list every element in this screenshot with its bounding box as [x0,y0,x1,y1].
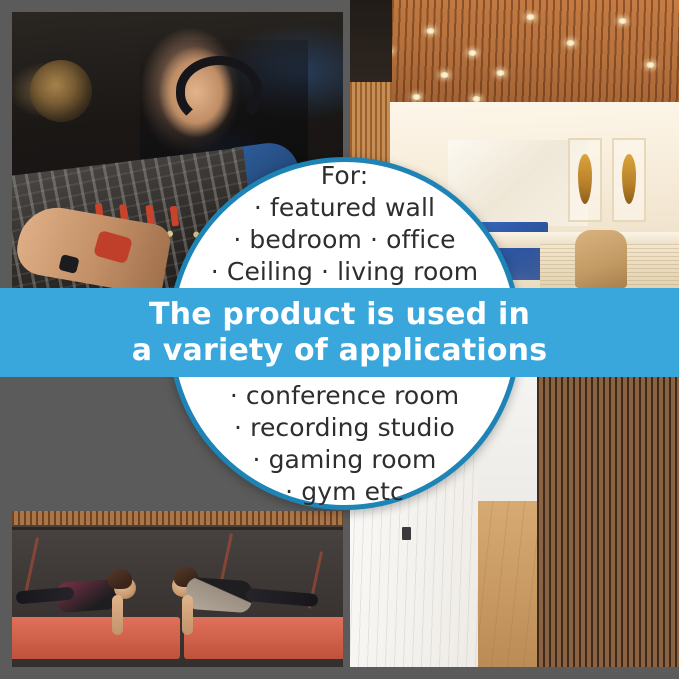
ceiling-spotlight [440,72,449,78]
callout-heading: For: [168,160,521,192]
headline-line-1: The product is used in [149,297,530,332]
exercise-mat [184,617,343,659]
headline-banner: The product is used in a variety of appl… [0,288,679,377]
callout-item-ceiling-living-room: · Ceiling · living room [168,256,521,288]
ceiling-spotlight [618,18,627,24]
gym-person-arm [112,595,123,635]
gym-baseboard [12,527,343,530]
ceiling-spotlight [646,62,655,68]
studio-monitor-speaker [30,60,92,122]
callout-item-conference-room: · conference room [168,380,521,412]
callout-item-featured-wall: · featured wall [168,192,521,224]
headphones-icon [176,56,262,126]
product-application-infographic: For: · featured wall · bedroom · office … [0,0,679,679]
ceiling-spotlight [566,40,575,46]
ceiling-spotlight [426,28,435,34]
photo-gym [12,511,343,667]
interior-chair [575,230,627,288]
callout-item-bedroom-office: · bedroom · office [168,224,521,256]
callout-top-text: For: · featured wall · bedroom · office … [168,160,521,288]
callout-item-gym-etc: · gym etc [168,476,521,508]
headline-line-2: a variety of applications [132,333,548,368]
callout-item-gaming-room: · gaming room [168,444,521,476]
gym-person-leg [246,588,319,607]
gym-person-right [160,559,340,623]
hallway-wood-slat-panel [537,377,679,667]
gym-person-left [22,559,162,623]
gym-person-torso [185,577,253,614]
callout-bottom-text: · conference room · recording studio · g… [168,380,521,508]
gym-person-hair [108,569,132,589]
gym-wood-slat-wall [12,511,343,525]
gym-person-arm [182,595,193,635]
exercise-mat [12,617,180,659]
ceiling-spotlight [412,94,421,100]
light-switch-icon [402,527,411,540]
wood-slat-ceiling [350,0,679,118]
callout-item-recording-studio: · recording studio [168,412,521,444]
interior-left-shadow [350,0,392,86]
ceiling-spotlight [496,70,505,76]
ceiling-spotlight [468,50,477,56]
ceiling-spotlight [526,14,535,20]
